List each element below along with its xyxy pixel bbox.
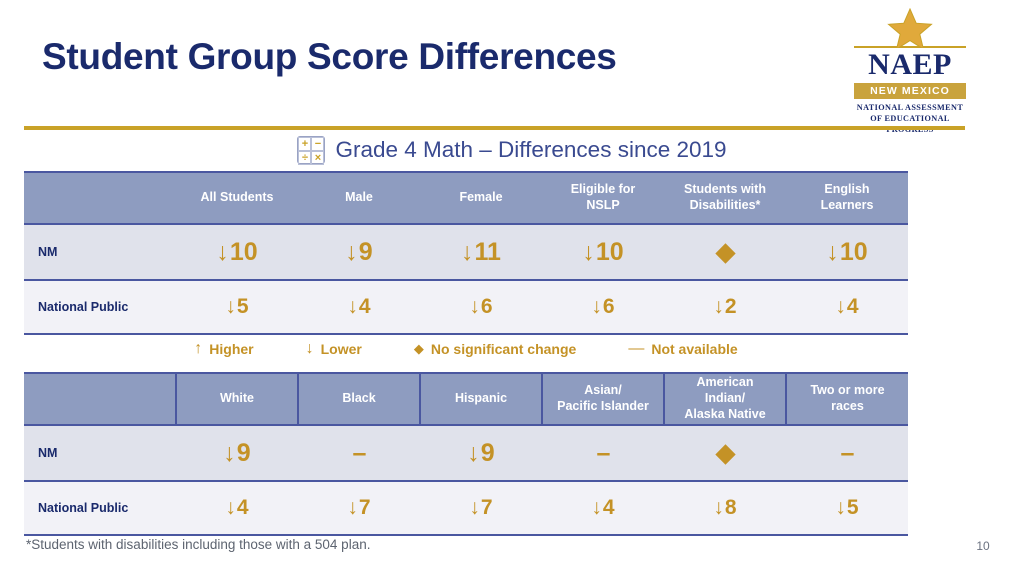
table-row: National Public ↓4 ↓7 ↓7 ↓4 ↓8 ↓5 bbox=[24, 481, 908, 535]
cell-natl-english-learners: ↓4 bbox=[786, 280, 908, 334]
cell-natl-female: ↓6 bbox=[420, 280, 542, 334]
row-label-national-public: National Public bbox=[24, 280, 176, 334]
table-row: NM ↓9 – ↓9 – ◆ – bbox=[24, 425, 908, 481]
value-nm-female: ↓11 bbox=[461, 238, 501, 266]
value-natl-white: ↓4 bbox=[225, 496, 248, 519]
column-header-asian-pacific-islander: Asian/ Pacific Islander bbox=[542, 373, 664, 425]
column-header-rowlabel bbox=[24, 373, 176, 425]
cell-natl-black: ↓7 bbox=[298, 481, 420, 535]
naep-tagline: NATIONAL ASSESSMENT OF EDUCATIONAL PROGR… bbox=[850, 103, 970, 136]
legend-item-higher: ↑ Higher bbox=[194, 340, 253, 358]
plus-icon: + bbox=[298, 137, 311, 151]
naep-tagline-line2: OF EDUCATIONAL bbox=[850, 114, 970, 125]
cell-nm-asian-pacific-islander: – bbox=[542, 425, 664, 481]
legend-label-lower: Lower bbox=[321, 341, 362, 357]
cell-natl-all-students: ↓5 bbox=[176, 280, 298, 334]
column-header-black: Black bbox=[298, 373, 420, 425]
gold-divider bbox=[24, 126, 965, 130]
legend-label-not-available: Not available bbox=[651, 341, 737, 357]
column-header-hispanic: Hispanic bbox=[420, 373, 542, 425]
legend-item-not-available: — Not available bbox=[628, 340, 737, 358]
legend: ↑ Higher ↓ Lower ◆ No significant change… bbox=[24, 340, 908, 358]
legend-label-no-significant-change: No significant change bbox=[431, 341, 576, 357]
subtitle-row: + − ÷ × Grade 4 Math – Differences since… bbox=[0, 136, 1024, 164]
naep-logo: NAEP NEW MEXICO NATIONAL ASSESSMENT OF E… bbox=[850, 8, 970, 136]
cell-nm-black: – bbox=[298, 425, 420, 481]
page-number: 10 bbox=[966, 539, 1000, 553]
table-row: National Public ↓5 ↓4 ↓6 ↓6 ↓2 ↓4 bbox=[24, 280, 908, 334]
cell-natl-eligible-nslp: ↓6 bbox=[542, 280, 664, 334]
table-header-row: All Students Male Female Eligible for NS… bbox=[24, 172, 908, 224]
cell-nm-english-learners: ↓10 bbox=[786, 224, 908, 280]
value-natl-female: ↓6 bbox=[469, 295, 492, 318]
table-header-row: White Black Hispanic Asian/ Pacific Isla… bbox=[24, 373, 908, 425]
value-nm-english-learners: ↓10 bbox=[826, 238, 867, 266]
cell-nm-eligible-nslp: ↓10 bbox=[542, 224, 664, 280]
diamond-icon: ◆ bbox=[414, 341, 424, 357]
value-nm-asian-pacific-islander: – bbox=[596, 439, 611, 467]
column-header-english-learners: English Learners bbox=[786, 172, 908, 224]
column-header-students-with-disabilities: Students with Disabilities* bbox=[664, 172, 786, 224]
math-operations-icon: + − ÷ × bbox=[297, 136, 325, 164]
cell-natl-two-or-more-races: ↓5 bbox=[786, 481, 908, 535]
cell-nm-all-students: ↓10 bbox=[176, 224, 298, 280]
naep-tagline-line1: NATIONAL ASSESSMENT bbox=[850, 103, 970, 114]
value-nm-two-or-more-races: – bbox=[840, 439, 855, 467]
student-group-table-top: All Students Male Female Eligible for NS… bbox=[24, 171, 908, 335]
value-nm-all-students: ↓10 bbox=[216, 238, 257, 266]
value-nm-male: ↓9 bbox=[345, 238, 372, 266]
cell-nm-two-or-more-races: – bbox=[786, 425, 908, 481]
value-natl-eligible-nslp: ↓6 bbox=[591, 295, 614, 318]
value-nm-black: – bbox=[352, 439, 367, 467]
dash-icon: — bbox=[628, 340, 644, 358]
legend-label-higher: Higher bbox=[209, 341, 253, 357]
cell-natl-male: ↓4 bbox=[298, 280, 420, 334]
value-nm-students-with-disabilities: ◆ bbox=[715, 238, 735, 266]
cell-nm-male: ↓9 bbox=[298, 224, 420, 280]
cell-nm-white: ↓9 bbox=[176, 425, 298, 481]
column-header-two-or-more-races: Two or more races bbox=[786, 373, 908, 425]
row-label-nm: NM bbox=[24, 425, 176, 481]
subtitle: Grade 4 Math – Differences since 2019 bbox=[335, 137, 726, 163]
value-nm-american-indian-alaska-native: ◆ bbox=[715, 439, 735, 467]
star-icon bbox=[850, 8, 970, 48]
column-header-white: White bbox=[176, 373, 298, 425]
row-label-national-public: National Public bbox=[24, 481, 176, 535]
divide-icon: ÷ bbox=[298, 151, 311, 165]
value-natl-american-indian-alaska-native: ↓8 bbox=[713, 496, 736, 519]
value-natl-two-or-more-races: ↓5 bbox=[835, 496, 858, 519]
value-natl-all-students: ↓5 bbox=[225, 295, 248, 318]
cell-natl-hispanic: ↓7 bbox=[420, 481, 542, 535]
minus-icon: − bbox=[311, 137, 324, 151]
arrow-down-icon: ↓ bbox=[306, 340, 314, 358]
cell-natl-students-with-disabilities: ↓2 bbox=[664, 280, 786, 334]
cell-nm-american-indian-alaska-native: ◆ bbox=[664, 425, 786, 481]
arrow-up-icon: ↑ bbox=[194, 340, 202, 358]
table-row: NM ↓10 ↓9 ↓11 ↓10 ◆ ↓10 bbox=[24, 224, 908, 280]
cell-nm-female: ↓11 bbox=[420, 224, 542, 280]
page-title: Student Group Score Differences bbox=[42, 36, 617, 78]
column-header-female: Female bbox=[420, 172, 542, 224]
cell-natl-american-indian-alaska-native: ↓8 bbox=[664, 481, 786, 535]
cell-nm-students-with-disabilities: ◆ bbox=[664, 224, 786, 280]
value-nm-white: ↓9 bbox=[223, 439, 250, 467]
row-label-nm: NM bbox=[24, 224, 176, 280]
column-header-rowlabel bbox=[24, 172, 176, 224]
column-header-american-indian-alaska-native: American Indian/ Alaska Native bbox=[664, 373, 786, 425]
legend-item-no-significant-change: ◆ No significant change bbox=[414, 341, 576, 357]
cell-natl-white: ↓4 bbox=[176, 481, 298, 535]
column-header-all-students: All Students bbox=[176, 172, 298, 224]
cell-nm-hispanic: ↓9 bbox=[420, 425, 542, 481]
value-natl-students-with-disabilities: ↓2 bbox=[713, 295, 736, 318]
column-header-eligible-nslp: Eligible for NSLP bbox=[542, 172, 664, 224]
column-header-male: Male bbox=[298, 172, 420, 224]
multiply-icon: × bbox=[311, 151, 324, 165]
value-natl-asian-pacific-islander: ↓4 bbox=[591, 496, 614, 519]
naep-wordmark: NAEP bbox=[850, 49, 970, 81]
cell-natl-asian-pacific-islander: ↓4 bbox=[542, 481, 664, 535]
value-nm-eligible-nslp: ↓10 bbox=[582, 238, 623, 266]
value-natl-english-learners: ↓4 bbox=[835, 295, 858, 318]
value-natl-hispanic: ↓7 bbox=[469, 496, 492, 519]
student-group-table-bottom: White Black Hispanic Asian/ Pacific Isla… bbox=[24, 372, 908, 536]
naep-state-band: NEW MEXICO bbox=[854, 83, 966, 99]
footnote: *Students with disabilities including th… bbox=[26, 537, 370, 552]
value-natl-black: ↓7 bbox=[347, 496, 370, 519]
value-nm-hispanic: ↓9 bbox=[467, 439, 494, 467]
value-natl-male: ↓4 bbox=[347, 295, 370, 318]
legend-item-lower: ↓ Lower bbox=[306, 340, 362, 358]
